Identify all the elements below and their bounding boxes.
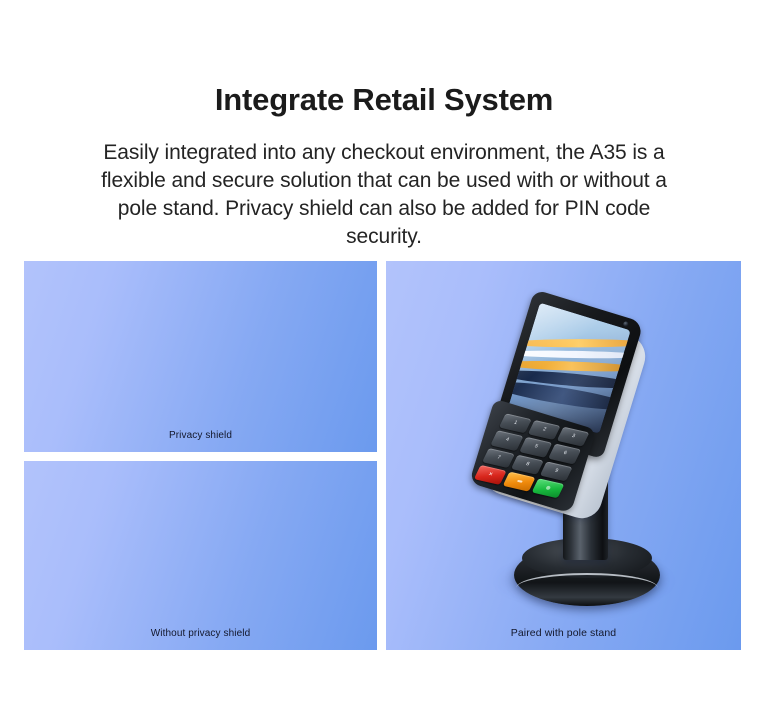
panel-background [24, 261, 377, 452]
panel-without-privacy-shield[interactable]: 1 2 3 4 5 6 7 8 9 Without privacy shield [24, 461, 377, 650]
panel-caption: Without privacy shield [24, 628, 377, 639]
pos-terminal-on-stand: 1 2 3 4 5 6 7 8 9 [465, 287, 680, 556]
pole-stand-assembly: 1 2 3 4 5 6 7 8 9 [386, 261, 741, 650]
key-cancel [474, 465, 507, 485]
key-9: 9 [540, 461, 573, 481]
page-title: Integrate Retail System [0, 81, 768, 119]
panel-privacy-shield[interactable]: 1 2 3 4 5 6 7 8 9 Privacy shield [24, 261, 377, 452]
panel-background [24, 461, 377, 650]
panel-caption: Paired with pole stand [386, 627, 741, 639]
key-2: 2 [528, 420, 561, 440]
key-1: 1 [499, 413, 532, 433]
panel-caption: Privacy shield [24, 430, 377, 441]
key-7: 7 [482, 448, 515, 468]
key-4: 4 [490, 430, 523, 450]
key-enter [532, 478, 565, 498]
front-camera-icon [623, 321, 629, 327]
key-3: 3 [557, 427, 590, 447]
keypad-grid: 1 2 3 4 5 6 7 8 9 [474, 413, 590, 498]
panel-pole-stand[interactable]: 1 2 3 4 5 6 7 8 9 Paired wit [386, 261, 741, 650]
stand-base-chrome-ring [516, 573, 658, 603]
key-8: 8 [511, 454, 544, 474]
key-5: 5 [519, 437, 552, 457]
product-feature-page: Integrate Retail System Easily integrate… [0, 0, 768, 710]
key-correct [503, 471, 536, 491]
page-description: Easily integrated into any checkout envi… [84, 139, 684, 251]
key-6: 6 [548, 444, 581, 464]
